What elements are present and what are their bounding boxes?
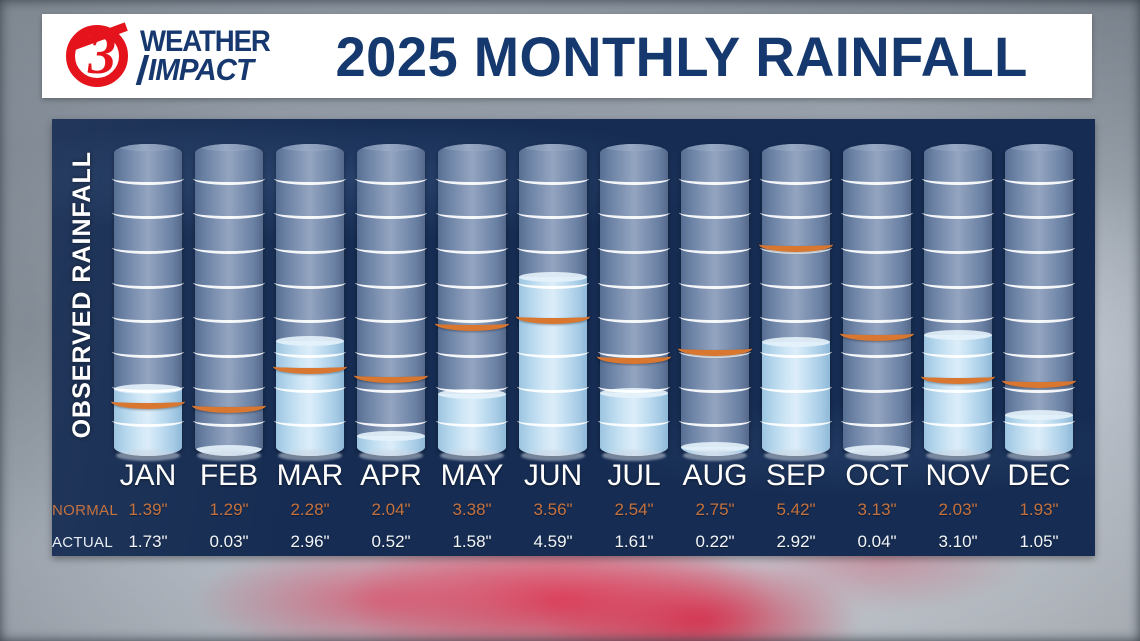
month-label-cell: JUN bbox=[519, 459, 587, 493]
month-label-cell: DEC bbox=[1005, 459, 1073, 493]
rain-gauge-column bbox=[195, 144, 263, 456]
actual-value-cell: 1.61" bbox=[600, 532, 668, 552]
normal-value-cell: 2.28" bbox=[276, 500, 344, 520]
rain-gauge-cylinder bbox=[195, 144, 263, 456]
logo-impact-row: IMPACT bbox=[140, 54, 281, 85]
rain-gauge-actual-fill bbox=[600, 393, 668, 456]
rain-gauge-top-cap bbox=[1005, 144, 1073, 151]
rain-gauge-column bbox=[843, 144, 911, 456]
rain-gauge-top-cap bbox=[438, 144, 506, 151]
rain-gauge-column bbox=[276, 144, 344, 456]
rain-gauge-cylinder bbox=[357, 144, 425, 456]
rain-gauge-top-cap bbox=[195, 144, 263, 151]
rain-gauge-column bbox=[438, 144, 506, 456]
table-row-actual: ACTUAL 1.73"0.03"2.96"0.52"1.58"4.59"1.6… bbox=[52, 526, 1095, 558]
rain-gauge-column bbox=[519, 144, 587, 456]
rain-gauge-top-cap bbox=[114, 144, 182, 151]
normal-value-cell: 1.93" bbox=[1005, 500, 1073, 520]
rain-gauge-column bbox=[924, 144, 992, 456]
normal-value-cell: 3.38" bbox=[438, 500, 506, 520]
actual-value-cell: 1.05" bbox=[1005, 532, 1073, 552]
month-label-cell: APR bbox=[357, 459, 425, 493]
logo-impact-text: IMPACT bbox=[148, 54, 253, 85]
actual-value-cell: 0.03" bbox=[195, 532, 263, 552]
logo-wordmark: WEATHER IMPACT bbox=[140, 27, 281, 85]
actual-value-cell: 0.22" bbox=[681, 532, 749, 552]
actual-value-cell: 1.58" bbox=[438, 532, 506, 552]
rain-gauge-cylinder bbox=[843, 144, 911, 456]
rain-gauge-chart bbox=[114, 144, 1080, 456]
rain-gauge-top-cap bbox=[600, 144, 668, 151]
rain-gauge-top-cap bbox=[357, 144, 425, 151]
rain-gauge-actual-fill bbox=[114, 389, 182, 456]
rain-gauge-cylinder bbox=[762, 144, 830, 456]
month-label-cell: JAN bbox=[114, 459, 182, 493]
months-cells: JANFEBMARAPRMAYJUNJULAUGSEPOCTNOVDEC bbox=[114, 459, 1095, 493]
normal-value-cell: 1.39" bbox=[114, 500, 182, 520]
rain-gauge-actual-fill bbox=[924, 335, 992, 456]
header-bar: 3 WEATHER IMPACT 2025 MONTHLY RAINFALL bbox=[42, 14, 1092, 98]
actual-value-cell: 2.92" bbox=[762, 532, 830, 552]
rain-gauge-actual-fill bbox=[276, 341, 344, 456]
rain-gauge-column bbox=[681, 144, 749, 456]
rain-gauge-column bbox=[1005, 144, 1073, 456]
normal-value-cell: 2.54" bbox=[600, 500, 668, 520]
normal-value-cell: 3.13" bbox=[843, 500, 911, 520]
actual-value-cell: 4.59" bbox=[519, 532, 587, 552]
rain-gauge-column bbox=[762, 144, 830, 456]
actual-value-cell: 2.96" bbox=[276, 532, 344, 552]
normal-value-cell: 3.56" bbox=[519, 500, 587, 520]
table-row-normal: NORMAL 1.39"1.29"2.28"2.04"3.38"3.56"2.5… bbox=[52, 494, 1095, 526]
rain-gauge-cylinder bbox=[681, 144, 749, 456]
rain-gauge-column bbox=[357, 144, 425, 456]
month-label-cell: AUG bbox=[681, 459, 749, 493]
month-label-cell: MAY bbox=[438, 459, 506, 493]
y-axis-label-text: OBSERVED RAINFALL bbox=[68, 151, 97, 438]
station-logo: 3 WEATHER IMPACT bbox=[64, 22, 281, 90]
rain-gauge-cylinder bbox=[600, 144, 668, 456]
table-row-months: JANFEBMARAPRMAYJUNJULAUGSEPOCTNOVDEC bbox=[52, 458, 1095, 494]
actual-row-label: ACTUAL bbox=[52, 534, 114, 551]
rain-gauge-column bbox=[114, 144, 182, 456]
rain-gauge-column bbox=[600, 144, 668, 456]
rain-gauge-actual-fill bbox=[438, 394, 506, 456]
rain-gauge-actual-fill bbox=[762, 342, 830, 456]
rain-gauge-top-cap bbox=[681, 144, 749, 151]
month-label-cell: MAR bbox=[276, 459, 344, 493]
actual-value-cell: 0.04" bbox=[843, 532, 911, 552]
normal-row-label: NORMAL bbox=[52, 502, 114, 519]
page-title: 2025 MONTHLY RAINFALL bbox=[293, 24, 1080, 89]
channel-three-logo-icon: 3 bbox=[64, 22, 138, 90]
normal-value-cell: 2.75" bbox=[681, 500, 749, 520]
month-label-cell: FEB bbox=[195, 459, 263, 493]
actual-value-cell: 0.52" bbox=[357, 532, 425, 552]
rain-gauge-top-cap bbox=[762, 144, 830, 151]
logo-channel-number: 3 bbox=[64, 22, 138, 90]
rain-gauge-top-cap bbox=[924, 144, 992, 151]
month-label-cell: NOV bbox=[924, 459, 992, 493]
rain-gauge-cylinder bbox=[1005, 144, 1073, 456]
month-label-cell: JUL bbox=[600, 459, 668, 493]
rain-gauge-cylinder bbox=[924, 144, 992, 456]
month-label-cell: SEP bbox=[762, 459, 830, 493]
normal-cells: 1.39"1.29"2.28"2.04"3.38"3.56"2.54"2.75"… bbox=[114, 500, 1095, 520]
rain-gauge-cylinder bbox=[519, 144, 587, 456]
actual-cells: 1.73"0.03"2.96"0.52"1.58"4.59"1.61"0.22"… bbox=[114, 532, 1095, 552]
rain-gauge-top-cap bbox=[843, 144, 911, 151]
month-label-cell: OCT bbox=[843, 459, 911, 493]
actual-value-cell: 1.73" bbox=[114, 532, 182, 552]
rainfall-data-table: JANFEBMARAPRMAYJUNJULAUGSEPOCTNOVDEC NOR… bbox=[52, 458, 1095, 558]
normal-value-cell: 5.42" bbox=[762, 500, 830, 520]
rain-gauge-cylinder bbox=[114, 144, 182, 456]
rain-gauge-actual-fill bbox=[519, 277, 587, 456]
rain-gauge-cylinder bbox=[276, 144, 344, 456]
y-axis-label: OBSERVED RAINFALL bbox=[60, 140, 104, 450]
rain-gauge-top-cap bbox=[519, 144, 587, 151]
normal-value-cell: 2.03" bbox=[924, 500, 992, 520]
rain-gauge-top-cap bbox=[276, 144, 344, 151]
normal-value-cell: 2.04" bbox=[357, 500, 425, 520]
rain-gauge-cylinder bbox=[438, 144, 506, 456]
actual-value-cell: 3.10" bbox=[924, 532, 992, 552]
normal-value-cell: 1.29" bbox=[195, 500, 263, 520]
